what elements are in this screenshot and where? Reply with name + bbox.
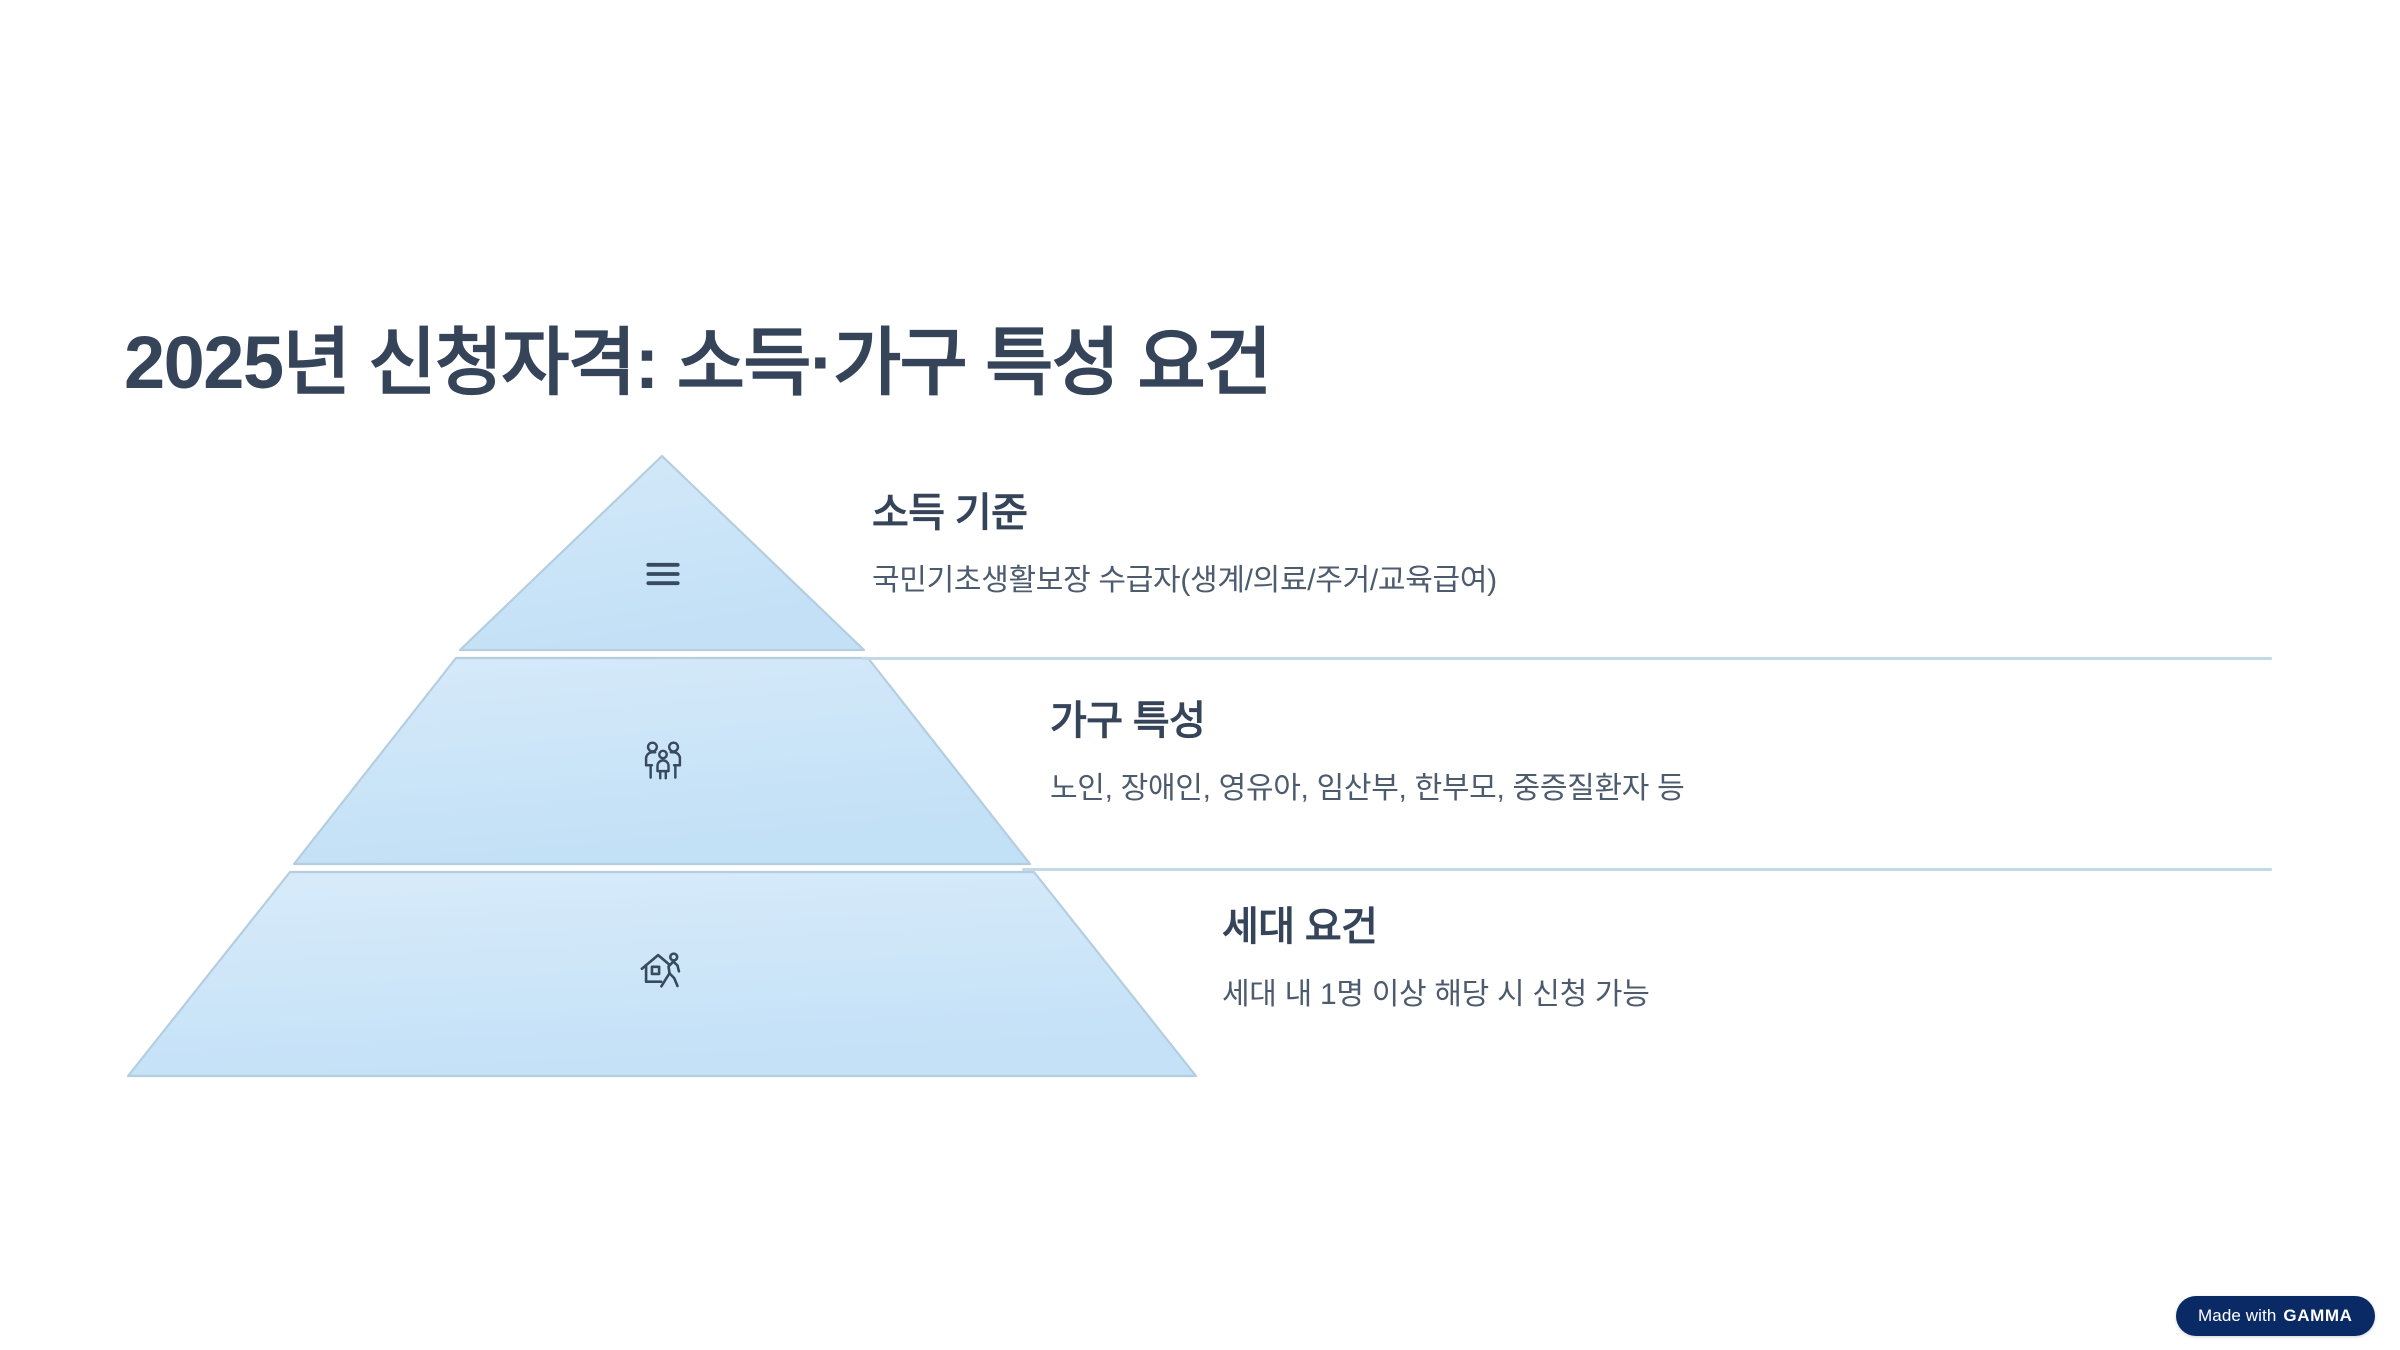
- tier-2-heading: 가구 특성: [1050, 696, 1684, 746]
- tier-2-description: 노인, 장애인, 영유아, 임산부, 한부모, 중증질환자 등: [1050, 768, 1684, 810]
- made-with-gamma-badge[interactable]: Made with GAMMA: [2176, 1296, 2375, 1336]
- slide-canvas: 2025년 신청자격: 소득·가구 특성 요건: [0, 0, 2400, 1350]
- tier-divider-2: [1022, 868, 2272, 871]
- tier-1-description: 국민기초생활보장 수급자(생계/의료/주거/교육급여): [872, 560, 1497, 602]
- badge-prefix-label: Made with: [2198, 1306, 2276, 1326]
- tier-3-description: 세대 내 1명 이상 해당 시 신청 가능: [1222, 974, 1650, 1016]
- tier-2-content: 가구 특성 노인, 장애인, 영유아, 임산부, 한부모, 중증질환자 등: [1050, 696, 1684, 810]
- pyramid-tier-3-shape: [128, 872, 1196, 1076]
- pyramid-tier-1-shape: [460, 456, 864, 650]
- pyramid-tier-2-shape: [294, 658, 1030, 864]
- tier-1-content: 소득 기준 국민기초생활보장 수급자(생계/의료/주거/교육급여): [872, 488, 1497, 602]
- tier-1-heading: 소득 기준: [872, 488, 1497, 538]
- tier-divider-1: [862, 657, 2272, 660]
- page-title: 2025년 신청자격: 소득·가구 특성 요건: [124, 322, 1271, 405]
- gamma-wordmark: GAMMA: [2283, 1306, 2352, 1326]
- tier-3-content: 세대 요건 세대 내 1명 이상 해당 시 신청 가능: [1222, 902, 1650, 1016]
- tier-3-heading: 세대 요건: [1222, 902, 1650, 952]
